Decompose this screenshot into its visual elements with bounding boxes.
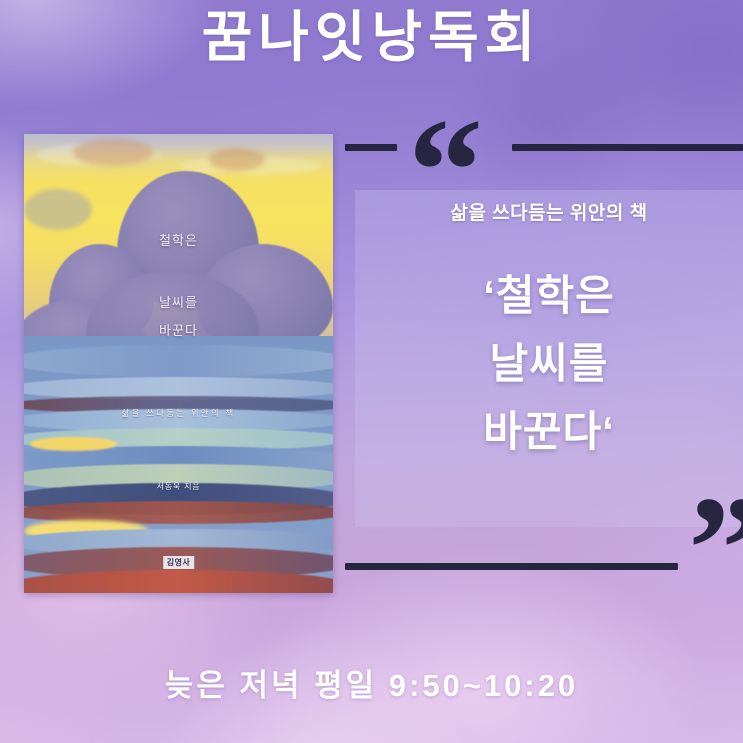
book-artwork-sky-streak xyxy=(24,189,92,230)
quote-rule-right xyxy=(512,144,743,151)
book-author: 서동욱 지음 xyxy=(24,481,333,492)
book-artwork-band xyxy=(24,570,333,593)
book-artwork-sun-reflection xyxy=(30,437,117,451)
quote-body: ‘철학은 날씨를 바꾼다‘ xyxy=(355,262,743,466)
book-artwork-band xyxy=(24,345,333,377)
schedule-text: 늦은 저녁 평일 9:50~10:20 xyxy=(0,660,743,705)
quote-line-2: 날씨를 xyxy=(355,330,743,398)
quote-rule-left xyxy=(345,144,397,151)
book-cover-image: 철학은 날씨를 바꾼다 삶을 쓰다듬는 위안의 책 서동욱 지음 김영사 xyxy=(24,134,333,593)
book-publisher-logo: 김영사 xyxy=(163,556,195,569)
poster-title: 꿈나잇낭독회 xyxy=(0,6,743,69)
book-artwork-sky-warm-streak xyxy=(209,148,265,171)
close-quote-icon: ” xyxy=(688,474,743,624)
book-tagline: 삶을 쓰다듬는 위안의 책 xyxy=(24,407,333,419)
quote-subtitle: 삶을 쓰다듬는 위안의 책 xyxy=(355,198,743,225)
poster-canvas: 꿈나잇낭독회 철학은 날씨를 바꾼다 삶을 쓰다듬는 위안의 책 서동욱 지음 xyxy=(0,0,743,743)
book-title-line-2: 날씨를 xyxy=(24,292,333,311)
book-artwork-sky-warm-streak xyxy=(73,139,153,167)
quote-rule-bottom xyxy=(345,563,678,570)
quote-line-1: ‘철학은 xyxy=(355,262,743,330)
quote-line-3: 바꾼다‘ xyxy=(355,398,743,466)
book-title-line-1: 철학은 xyxy=(24,230,333,249)
book-title-line-3: 바꾼다 xyxy=(24,320,333,339)
